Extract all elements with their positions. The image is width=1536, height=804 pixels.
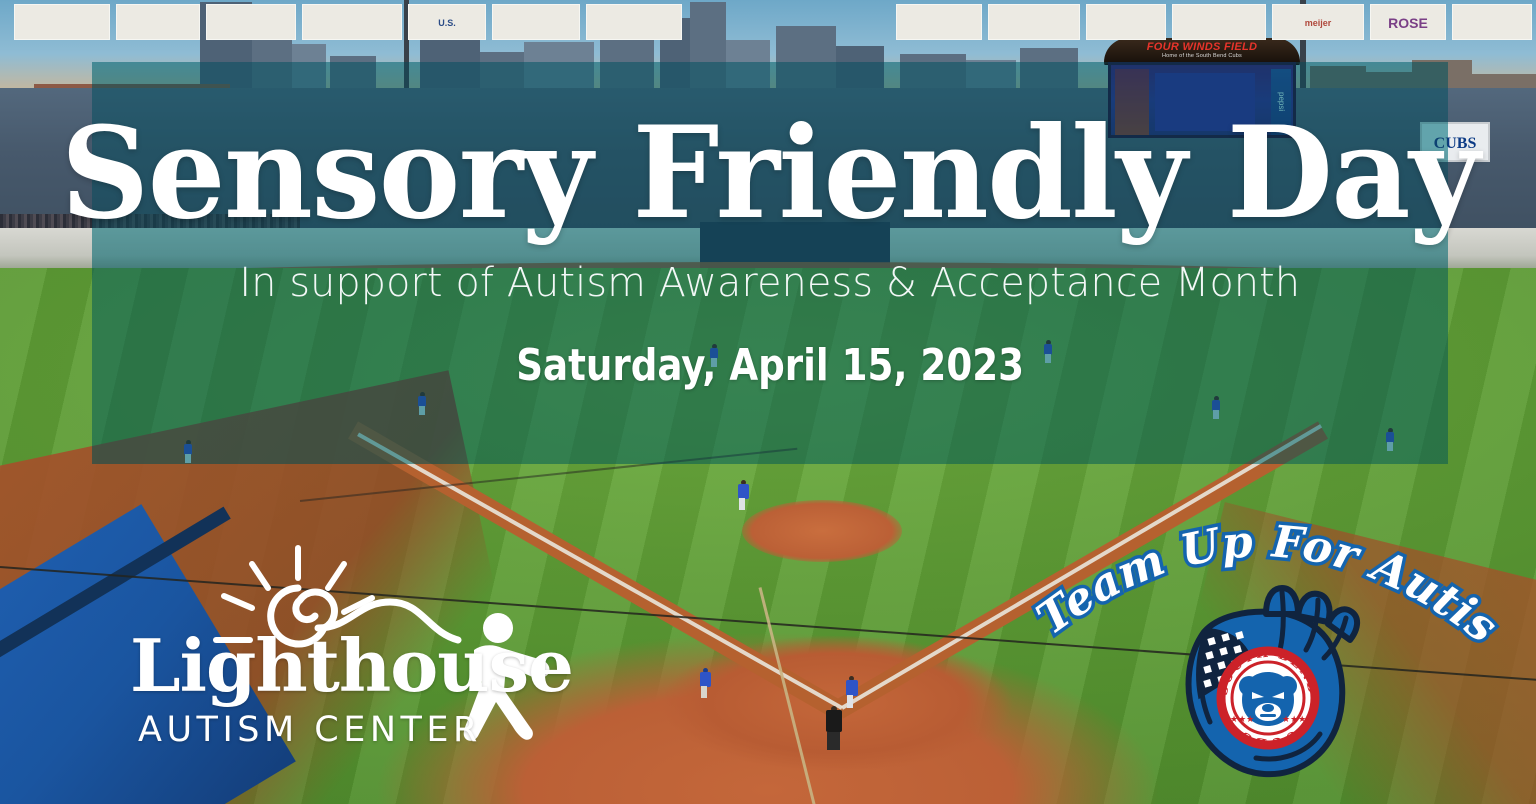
wall-ad [586,4,682,40]
pitchers-mound [742,500,902,562]
wall-ad [1452,4,1532,40]
wall-ad [1172,4,1266,40]
scoreboard-subtitle: Home of the South Bend Cubs [1104,53,1300,59]
wall-ad [1086,4,1166,40]
wall-ad [896,4,982,40]
wall-ad [302,4,402,40]
svg-text:★★★: ★★★ [1230,714,1254,724]
wall-ad [14,4,110,40]
pitcher [738,480,749,510]
team-up-for-autism-logo: Team Up For Autism [1020,496,1490,796]
event-date-text: Saturday, April 15, 2023 [516,340,1024,391]
baseball-glove-icon: SOUTH BEND CUBS [1148,558,1378,788]
batter [700,668,711,698]
lighthouse-wordmark: Lighthouse [130,630,573,702]
svg-text:★★★: ★★★ [1282,714,1306,724]
wall-ad [206,4,296,40]
page-subtitle: In support of Autism Awareness & Accepta… [240,260,1301,306]
scoreboard-title: FOUR WINDS FIELD [1104,41,1300,53]
umpire [826,706,842,750]
headline-block: Sensory Friendly Day In support of Autis… [92,62,1448,464]
wall-ad-meijer: meijer [1272,4,1364,40]
lighthouse-subtext: AUTISM CENTER [138,710,482,750]
wall-ad [492,4,580,40]
wall-ad-rose: ROSE [1370,4,1446,40]
wall-ad-us: U.S. [408,4,486,40]
wall-ad [988,4,1080,40]
page-title: Sensory Friendly Day [61,110,1479,236]
wall-ad [116,4,200,40]
lighthouse-autism-center-logo: Lighthouse AUTISM CENTER [122,544,562,756]
catcher [846,676,858,708]
scoreboard-arch: FOUR WINDS FIELD Home of the South Bend … [1104,38,1300,64]
sensory-friendly-day-poster: TOYOTA FOUR WINDS FIELD Home of the Sout… [0,0,1536,804]
